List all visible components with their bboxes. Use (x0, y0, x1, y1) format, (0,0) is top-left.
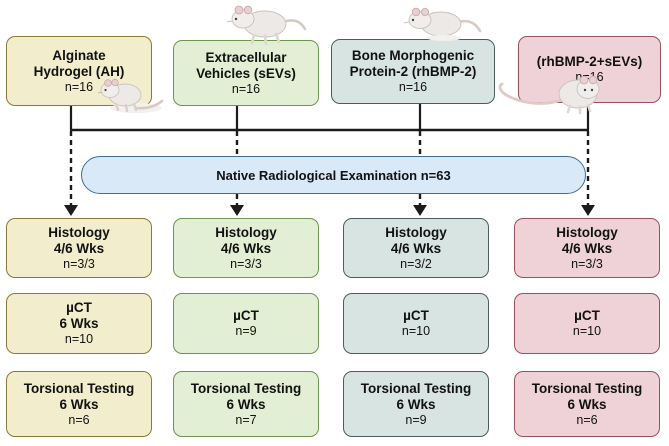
assay-timepoint: 6 Wks (59, 316, 98, 332)
assay-timepoint: 6 Wks (59, 397, 98, 413)
assay-timepoint: 4/6 Wks (562, 241, 612, 257)
assay-count: n=3/3 (571, 257, 603, 272)
assay-name: Torsional Testing (24, 381, 135, 397)
histology-box-extracellular-vehicles[interactable]: Histology 4/6 Wks n=3/3 (173, 218, 319, 278)
group-line1: Bone Morphogenic (352, 48, 474, 64)
assay-count: n=3/3 (63, 257, 95, 272)
group-box-bone-morphogenic-protein-2[interactable]: Bone Morphogenic Protein-2 (rhBMP-2) n=1… (331, 39, 495, 104)
assay-name: Histology (556, 225, 618, 241)
assay-name: µCT (233, 308, 259, 324)
mct-box-rhbmp-2-plus-sevs[interactable]: µCT n=10 (514, 293, 660, 354)
assay-timepoint: 4/6 Wks (54, 241, 104, 257)
rat-icon (221, 2, 307, 46)
assay-name: Torsional Testing (532, 381, 643, 397)
group-count: n=16 (232, 82, 260, 97)
mct-box-alginate-hydrogel[interactable]: µCT 6 Wks n=10 (6, 293, 152, 354)
group-line2: Vehicles (sEVs) (196, 66, 296, 82)
assay-timepoint: 4/6 Wks (391, 241, 441, 257)
group-count: n=16 (65, 80, 93, 95)
assay-count: n=6 (68, 413, 89, 428)
assay-name: Histology (385, 225, 447, 241)
assay-name: Torsional Testing (361, 381, 472, 397)
assay-timepoint: 6 Wks (226, 397, 265, 413)
assay-timepoint: 4/6 Wks (221, 241, 271, 257)
torsional-box-rhbmp-2-plus-sevs[interactable]: Torsional Testing 6 Wks n=6 (514, 371, 660, 437)
assay-count: n=7 (235, 413, 256, 428)
banner-label: Native Radiological Examination n=63 (216, 168, 450, 183)
mct-box-bone-morphogenic-protein-2[interactable]: µCT n=10 (343, 293, 489, 354)
assay-name: µCT (403, 308, 429, 324)
rat-icon (92, 68, 164, 116)
rat-icon (398, 2, 482, 44)
assay-count: n=6 (576, 413, 597, 428)
histology-box-bone-morphogenic-protein-2[interactable]: Histology 4/6 Wks n=3/2 (343, 218, 489, 278)
assay-count: n=3/2 (400, 257, 432, 272)
assay-name: µCT (66, 300, 92, 316)
group-line1: Alginate (52, 48, 105, 64)
assay-name: µCT (574, 308, 600, 324)
assay-count: n=9 (235, 324, 256, 339)
native-radiological-examination-banner[interactable]: Native Radiological Examination n=63 (81, 156, 586, 194)
torsional-box-bone-morphogenic-protein-2[interactable]: Torsional Testing 6 Wks n=9 (343, 371, 489, 437)
assay-name: Histology (48, 225, 110, 241)
assay-count: n=10 (573, 324, 601, 339)
histology-box-alginate-hydrogel[interactable]: Histology 4/6 Wks n=3/3 (6, 218, 152, 278)
torsional-box-extracellular-vehicles[interactable]: Torsional Testing 6 Wks n=7 (173, 371, 319, 437)
histology-box-rhbmp-2-plus-sevs[interactable]: Histology 4/6 Wks n=3/3 (514, 218, 660, 278)
group-count: n=16 (399, 80, 427, 95)
assay-count: n=10 (402, 324, 430, 339)
study-design-flowchart: Alginate Hydrogel (AH) n=16 Extracellula… (0, 0, 669, 446)
assay-count: n=3/3 (230, 257, 262, 272)
group-box-extracellular-vehicles[interactable]: Extracellular Vehicles (sEVs) n=16 (173, 40, 319, 106)
assay-name: Torsional Testing (191, 381, 302, 397)
assay-count: n=9 (405, 413, 426, 428)
assay-name: Histology (215, 225, 277, 241)
torsional-box-alginate-hydrogel[interactable]: Torsional Testing 6 Wks n=6 (6, 371, 152, 437)
rat-icon (492, 62, 602, 116)
mct-box-extracellular-vehicles[interactable]: µCT n=9 (173, 293, 319, 354)
group-line2: Protein-2 (rhBMP-2) (350, 64, 477, 80)
assay-timepoint: 6 Wks (396, 397, 435, 413)
assay-count: n=10 (65, 332, 93, 347)
assay-timepoint: 6 Wks (567, 397, 606, 413)
group-line1: Extracellular (205, 50, 286, 66)
